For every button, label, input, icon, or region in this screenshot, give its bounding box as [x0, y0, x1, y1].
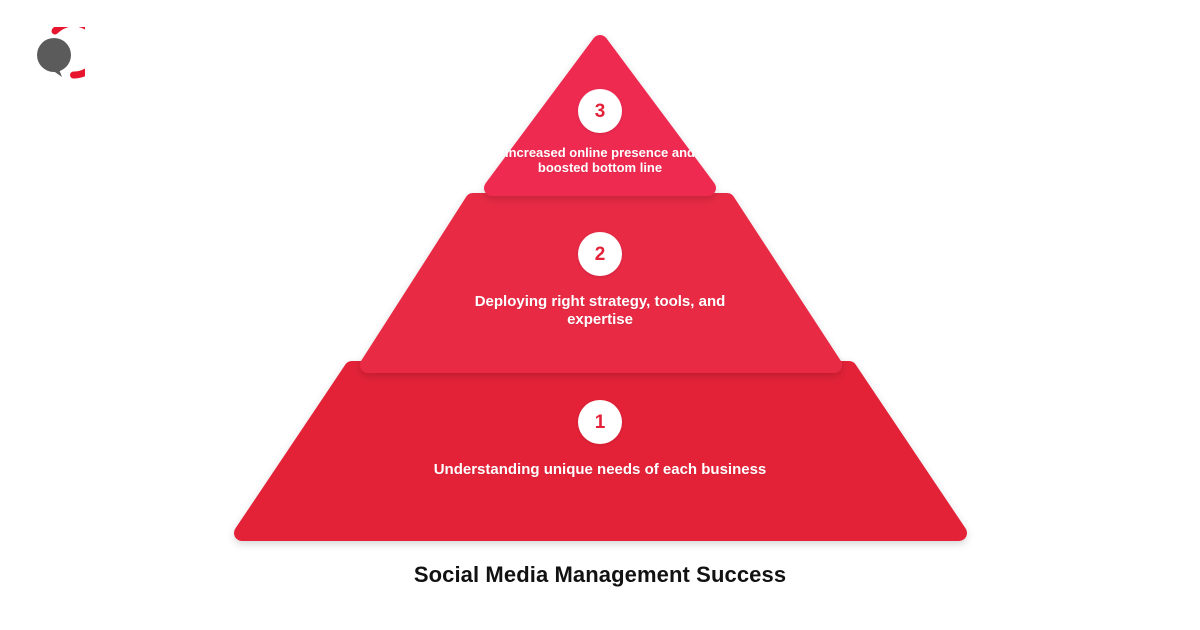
pyramid-shapes [0, 0, 1200, 560]
pyramid-tier-2-shape[interactable] [368, 201, 834, 365]
diagram-caption: Social Media Management Success [0, 562, 1200, 588]
pyramid-tier-1-shape[interactable] [242, 369, 959, 533]
pyramid-tier-3-shape[interactable] [492, 43, 708, 188]
pyramid-diagram: 3 Increased online presence and boosted … [0, 0, 1200, 560]
